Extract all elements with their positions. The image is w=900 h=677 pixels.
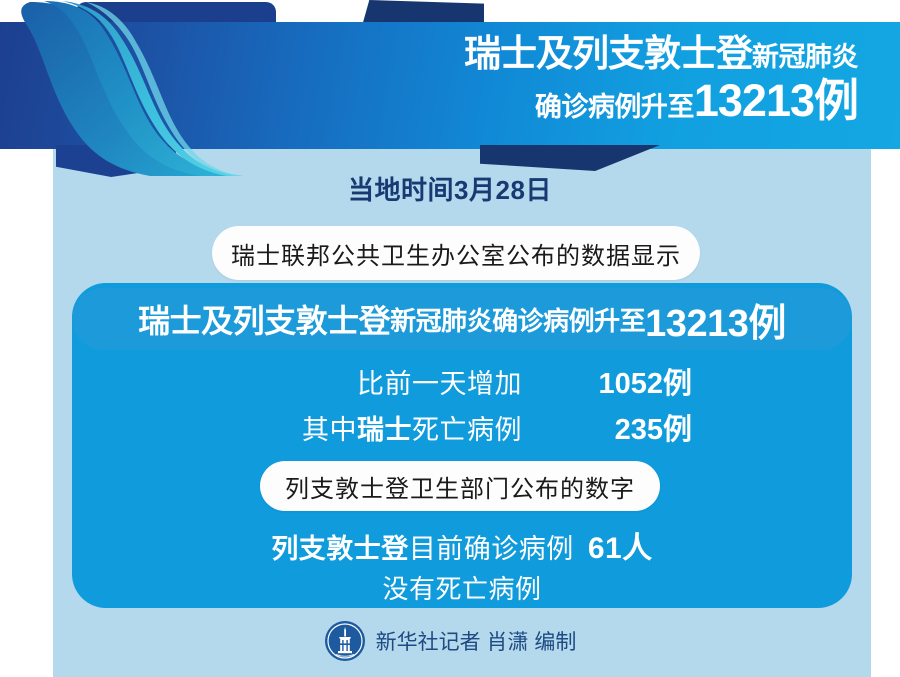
headline-small: 新冠肺炎确诊病例升至 bbox=[390, 301, 645, 338]
headline-number: 13213例 bbox=[645, 292, 786, 347]
stat-label-deaths: 其中瑞士死亡病例 bbox=[232, 408, 522, 447]
header-title-number: 13213例 bbox=[694, 75, 858, 126]
stat-value-increase: 1052例 bbox=[522, 360, 692, 402]
header-banner: 瑞士及列支敦士登新冠肺炎 确诊病例升至13213例 bbox=[0, 22, 900, 149]
headline-bar: 瑞士及列支敦士登新冠肺炎确诊病例升至13213例 bbox=[72, 288, 852, 350]
credit: 新华社记者 肖潇 编制 bbox=[0, 620, 900, 662]
liechtenstein-number: 61人 bbox=[588, 532, 653, 565]
stat-label-deaths-bold: 瑞士 bbox=[357, 415, 412, 445]
liechtenstein-line1: 列支敦士登目前确诊病例61人 bbox=[72, 523, 852, 567]
stat-label-deaths-prefix: 其中 bbox=[302, 415, 357, 445]
header-title: 瑞士及列支敦士登新冠肺炎 确诊病例升至13213例 bbox=[238, 34, 858, 125]
stat-label-deaths-suffix: 死亡病例 bbox=[412, 415, 522, 445]
date-line: 当地时间3月28日 bbox=[0, 170, 900, 207]
source-pill: 瑞士联邦公共卫生办公室公布的数据显示 bbox=[212, 226, 700, 280]
header-title-line2: 确诊病例升至13213例 bbox=[238, 77, 858, 125]
liechtenstein-block: 列支敦士登目前确诊病例61人 没有死亡病例 bbox=[72, 523, 852, 606]
stat-row: 比前一天增加 1052例 bbox=[72, 360, 852, 402]
liechtenstein-line1-bold: 列支敦士登 bbox=[271, 534, 409, 564]
stat-label-increase: 比前一天增加 bbox=[232, 362, 522, 401]
liechtenstein-source-pill: 列支敦士登卫生部门公布的数字 bbox=[260, 461, 660, 511]
header-title-line1: 瑞士及列支敦士登新冠肺炎 bbox=[238, 34, 858, 73]
credit-text: 新华社记者 肖潇 编制 bbox=[376, 626, 577, 656]
header-title-line2-small: 确诊病例升至 bbox=[535, 92, 694, 122]
liechtenstein-line2: 没有死亡病例 bbox=[72, 569, 852, 606]
header-title-small: 新冠肺炎 bbox=[752, 42, 858, 72]
headline-bold: 瑞士及列支敦士登 bbox=[138, 296, 390, 342]
infographic-canvas: 瑞士及列支敦士登新冠肺炎 确诊病例升至13213例 bbox=[0, 0, 900, 677]
header-title-bold: 瑞士及列支敦士登 bbox=[464, 33, 752, 74]
stat-value-deaths: 235例 bbox=[522, 406, 692, 448]
stat-rows: 比前一天增加 1052例 其中瑞士死亡病例 235例 bbox=[72, 360, 852, 452]
stat-row: 其中瑞士死亡病例 235例 bbox=[72, 406, 852, 448]
xinhua-logo-icon bbox=[324, 620, 366, 662]
liechtenstein-line1-rest: 目前确诊病例 bbox=[409, 534, 574, 564]
